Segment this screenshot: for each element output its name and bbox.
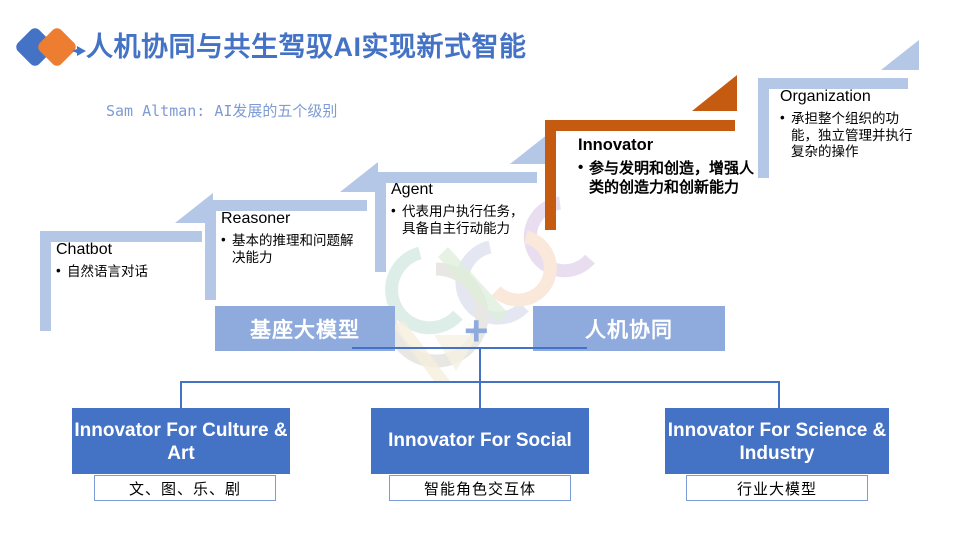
level-text-organization: Organization 承担整个组织的功能，独立管理并执行复杂的操作 [780,88,920,161]
level-name: Agent [391,181,531,199]
step-bar-vertical [375,172,386,272]
step-bar-vertical [40,231,51,331]
step-bar-vertical [205,200,216,300]
step-arrow-icon [692,75,737,111]
connector-drop-right [778,381,780,409]
connector-mid-horizontal [352,347,587,349]
level-desc: 代表用户执行任务，具备自主行动能力 [391,204,531,237]
mid-box-foundation-model[interactable]: 基座大模型 [215,306,395,351]
brand-logo-icon [14,22,90,72]
page-title: 人机协同与共生驾驭AI实现新式智能 [86,25,527,64]
level-text-agent: Agent 代表用户执行任务，具备自主行动能力 [391,181,531,237]
level-name: Organization [780,88,920,106]
step-bar-vertical [545,120,556,230]
level-desc: 参与发明和创造，增强人类的创造力和创新能力 [578,160,758,198]
connector-drop-left [180,381,182,409]
slide-subtitle: Sam Altman: AI发展的五个级别 [106,100,337,121]
leaf-box-culture-art[interactable]: Innovator For Culture & Art [72,408,290,474]
slide-canvas: 人机协同与共生驾驭AI实现新式智能 Sam Altman: AI发展的五个级别 … [0,0,960,540]
step-arrow-icon [881,40,919,70]
step-arrow-icon [340,162,378,192]
connector-drop-center [479,381,481,409]
level-name: Reasoner [221,210,363,228]
leaf-box-social[interactable]: Innovator For Social [371,408,589,474]
step-arrow-icon [510,134,548,164]
mid-box-human-ai-collab[interactable]: 人机协同 [533,306,725,351]
plus-operator: + [464,310,489,352]
leaf-caption-social: 智能角色交互体 [389,475,571,501]
level-desc: 基本的推理和问题解决能力 [221,233,363,266]
level-desc: 承担整个组织的功能，独立管理并执行复杂的操作 [780,111,920,160]
leaf-caption-science-industry: 行业大模型 [686,475,868,501]
step-bar-horizontal [545,120,735,131]
step-bar-vertical [758,78,769,178]
level-name: Innovator [578,136,758,155]
level-text-reasoner: Reasoner 基本的推理和问题解决能力 [221,210,363,266]
level-text-chatbot: Chatbot 自然语言对话 [56,241,196,281]
level-text-innovator: Innovator 参与发明和创造，增强人类的创造力和创新能力 [578,136,758,198]
leaf-box-science-industry[interactable]: Innovator For Science & Industry [665,408,889,474]
connector-mid-vertical [479,347,481,383]
leaf-caption-culture-art: 文、图、乐、剧 [94,475,276,501]
level-name: Chatbot [56,241,196,259]
level-desc: 自然语言对话 [56,264,196,280]
